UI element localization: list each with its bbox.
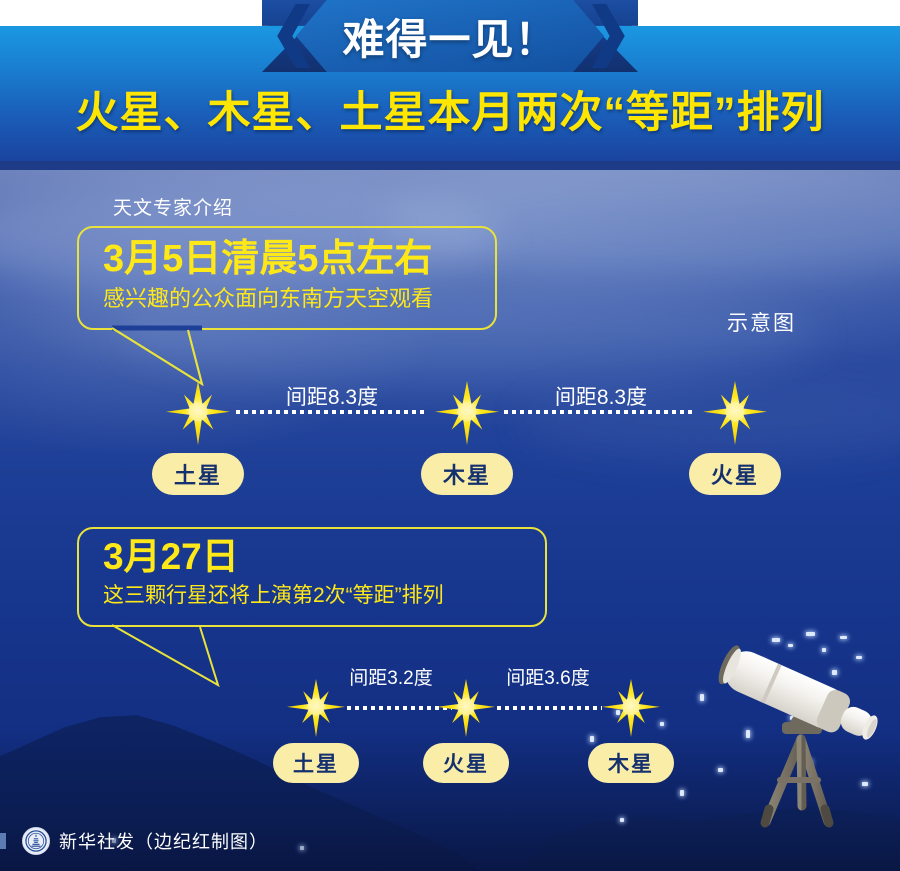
planet-label-pill: 木星 (421, 453, 513, 495)
march-5-callout: 3月5日清晨5点左右 感兴趣的公众面向东南方天空观看 (77, 226, 497, 330)
planet-label-pill: 火星 (423, 743, 509, 783)
planet-jupiter-march-5: 木星 (421, 381, 513, 495)
header-white-strip-right (632, 0, 900, 26)
header-divider (0, 161, 900, 170)
planet-label-pill: 木星 (588, 743, 674, 783)
march-27-callout-headline: 3月27日 (79, 535, 545, 579)
star-icon (166, 381, 230, 445)
city-light-icon (620, 818, 624, 822)
edge-tick (0, 833, 6, 849)
planet-saturn-march-27: 土星 (273, 679, 359, 783)
star-icon (703, 381, 767, 445)
planet-mars-march-5: 火星 (689, 381, 781, 495)
planet-saturn-march-5: 土星 (152, 381, 244, 495)
planet-jupiter-march-27: 木星 (588, 679, 674, 783)
header-white-strip-left (0, 0, 268, 26)
gap-label-2: 间距3.6度 (506, 663, 589, 690)
xinhua-logo-icon (22, 827, 50, 855)
march-5-callout-subtext: 感兴趣的公众面向东南方天空观看 (79, 282, 495, 316)
planet-mars-march-27: 火星 (423, 679, 509, 783)
star-icon (602, 679, 660, 737)
city-light-icon (700, 694, 704, 701)
gap-label-1: 间距8.3度 (286, 381, 378, 411)
star-icon (287, 679, 345, 737)
march-27-callout: 3月27日 这三颗行星还将上演第2次“等距”排列 (77, 527, 547, 627)
planet-label-pill: 火星 (689, 453, 781, 495)
footer-credit: 新华社发（边纪红制图） (22, 827, 268, 855)
lead-label: 天文专家介绍 (113, 193, 233, 220)
telescope-icon (706, 634, 896, 844)
planet-label-pill: 土星 (273, 743, 359, 783)
star-icon (435, 381, 499, 445)
header-banner: 难得一见！ 火星、木星、土星本月两次“等距”排列 (0, 0, 900, 161)
gap-label-1: 间距3.2度 (349, 663, 432, 690)
infographic-canvas: 难得一见！ 火星、木星、土星本月两次“等距”排列 (0, 0, 900, 871)
gap-label-2: 间距8.3度 (555, 381, 647, 411)
credit-text: 新华社发（边纪红制图） (59, 828, 268, 854)
city-light-icon (680, 790, 684, 796)
page-title: 火星、木星、土星本月两次“等距”排列 (0, 78, 900, 140)
planet-label-pill: 土星 (152, 453, 244, 495)
schematic-label: 示意图 (727, 307, 796, 337)
city-light-icon (300, 846, 304, 850)
march-27-callout-subtext: 这三颗行星还将上演第2次“等距”排列 (79, 579, 545, 613)
star-icon (437, 679, 495, 737)
march-5-callout-headline: 3月5日清晨5点左右 (79, 236, 495, 282)
header-kicker: 难得一见！ (262, 2, 638, 70)
gap-connector-dots (497, 706, 602, 710)
